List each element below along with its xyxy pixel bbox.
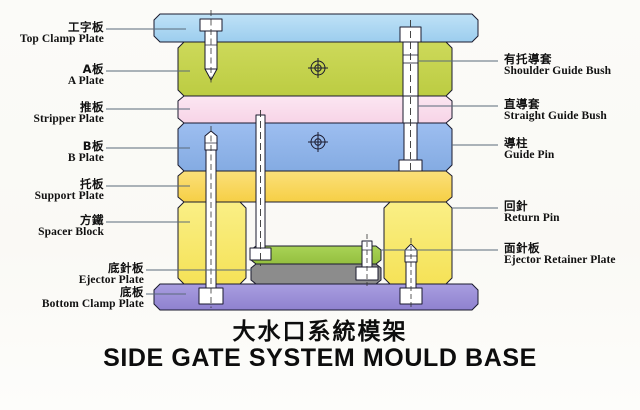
label-ejector-retainer-plate-en: Ejector Retainer Plate — [504, 254, 616, 266]
label-ejector-retainer-plate-cn: 面針板 — [504, 242, 616, 254]
label-ejector-retainer-plate: 面針板 Ejector Retainer Plate — [504, 242, 616, 266]
label-support-plate-en: Support Plate — [35, 190, 104, 202]
label-return-pin-en: Return Pin — [504, 212, 560, 224]
label-stripper-plate-en: Stripper Plate — [34, 113, 105, 125]
label-ejector-plate-cn: 底針板 — [79, 262, 144, 274]
label-straight-guide-bush-cn: 直導套 — [504, 98, 607, 110]
label-top-clamp-plate-cn: 工字板 — [20, 21, 104, 33]
label-straight-guide-bush: 直導套 Straight Guide Bush — [504, 98, 607, 122]
label-guide-pin-cn: 導柱 — [504, 137, 554, 149]
label-straight-guide-bush-en: Straight Guide Bush — [504, 110, 607, 122]
label-b-plate: B板 B Plate — [68, 140, 104, 164]
label-a-plate: A板 A Plate — [68, 63, 104, 87]
label-support-plate-cn: 托板 — [35, 178, 104, 190]
label-guide-pin: 導柱 Guide Pin — [504, 137, 554, 161]
label-bottom-clamp-plate-cn: 底板 — [42, 286, 144, 298]
label-return-pin: 回針 Return Pin — [504, 200, 560, 224]
title-english: SIDE GATE SYSTEM MOULD BASE — [0, 344, 640, 373]
label-bottom-clamp-plate: 底板 Bottom Clamp Plate — [42, 286, 144, 310]
label-a-plate-cn: A板 — [68, 63, 104, 75]
diagram-page: 工字板 Top Clamp Plate A板 A Plate 推板 Stripp… — [0, 0, 640, 410]
label-shoulder-guide-bush-cn: 有托導套 — [504, 53, 611, 65]
label-spacer-block-en: Spacer Block — [38, 226, 104, 238]
label-a-plate-en: A Plate — [68, 75, 104, 87]
label-b-plate-cn: B板 — [68, 140, 104, 152]
label-guide-pin-en: Guide Pin — [504, 149, 554, 161]
label-top-clamp-plate-en: Top Clamp Plate — [20, 33, 104, 45]
label-top-clamp-plate: 工字板 Top Clamp Plate — [20, 21, 104, 45]
label-shoulder-guide-bush: 有托導套 Shoulder Guide Bush — [504, 53, 611, 77]
plate-support-plate — [178, 171, 452, 202]
label-b-plate-en: B Plate — [68, 152, 104, 164]
label-support-plate: 托板 Support Plate — [35, 178, 104, 202]
label-bottom-clamp-plate-en: Bottom Clamp Plate — [42, 298, 144, 310]
label-return-pin-cn: 回針 — [504, 200, 560, 212]
label-stripper-plate: 推板 Stripper Plate — [34, 101, 105, 125]
label-ejector-plate: 底針板 Ejector Plate — [79, 262, 144, 286]
label-shoulder-guide-bush-en: Shoulder Guide Bush — [504, 65, 611, 77]
label-stripper-plate-cn: 推板 — [34, 101, 105, 113]
plate-spacer-block-right — [384, 202, 452, 284]
component-return-pin-left-shaft — [206, 150, 216, 288]
label-spacer-block-cn: 方鐵 — [38, 214, 104, 226]
title-chinese: 大水口系統模架 — [0, 312, 640, 346]
label-spacer-block: 方鐵 Spacer Block — [38, 214, 104, 238]
